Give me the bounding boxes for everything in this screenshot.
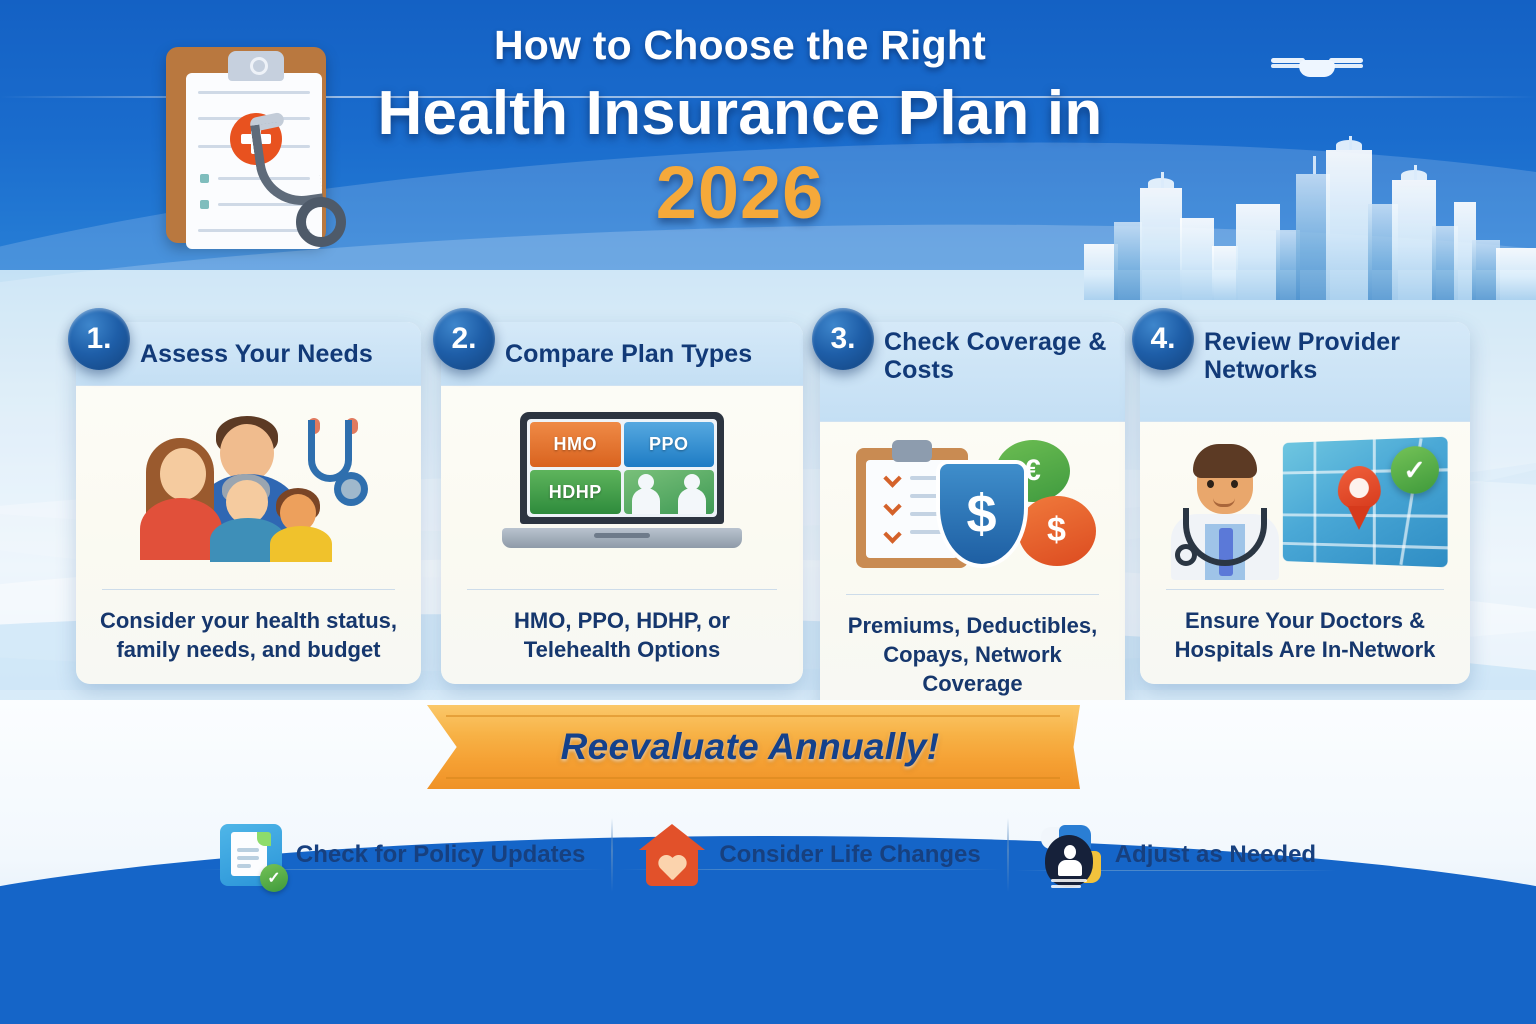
footer-label-2: Consider Life Changes xyxy=(719,841,980,870)
laptop-plan-types-illustration: HMO PPO HDHP xyxy=(441,386,803,589)
step-title-3: Check Coverage & Costs xyxy=(884,328,1125,384)
step-number-badge-1: 1. xyxy=(68,308,130,370)
drone-icon xyxy=(1271,52,1363,86)
verified-check-icon: ✓ xyxy=(1391,446,1439,494)
plan-tile-ppo: PPO xyxy=(624,422,715,467)
stethoscope-icon xyxy=(246,121,342,251)
step-number-badge-4: 4. xyxy=(1132,308,1194,370)
footer-item-life-changes[interactable]: Consider Life Changes xyxy=(613,824,1006,886)
steps-card-row: 1. Assess Your Needs xyxy=(0,300,1536,695)
title-line-2: Health Insurance Plan in xyxy=(330,77,1150,151)
footer-reminders: ✓ Check for Policy Updates Consider Life… xyxy=(0,800,1536,910)
plan-tile-hdhp: HDHP xyxy=(530,470,621,515)
check-badge: ✓ xyxy=(260,864,288,892)
footer-label-1: Check for Policy Updates xyxy=(296,841,585,870)
document-check-icon: ✓ xyxy=(220,824,282,886)
stethoscope-icon xyxy=(300,420,372,518)
plan-tile-hmo: HMO xyxy=(530,422,621,467)
step-title-1: Assess Your Needs xyxy=(140,340,373,368)
step-card-header-2: Compare Plan Types xyxy=(441,322,803,386)
money-bag-icon: $ xyxy=(1018,496,1096,566)
callout-ribbon: Reevaluate Annually! xyxy=(0,705,1536,797)
doctor-avatar xyxy=(1165,434,1285,580)
step-card-4[interactable]: 4. Review Provider Networks xyxy=(1140,322,1470,684)
title-line-1: How to Choose the Right xyxy=(330,22,1150,69)
network-map-icon: ✓ xyxy=(1283,437,1448,568)
profile-adjust-icon xyxy=(1035,823,1101,887)
step-card-2[interactable]: 2. Compare Plan Types HMO PPO HDHP xyxy=(441,322,803,684)
step-card-1[interactable]: 1. Assess Your Needs xyxy=(76,322,421,684)
doctor-map-illustration: ✓ xyxy=(1140,422,1470,589)
home-heart-icon xyxy=(639,824,705,886)
step-title-4: Review Provider Networks xyxy=(1204,328,1470,384)
ribbon-text: Reevaluate Annually! xyxy=(561,726,940,768)
medical-clipboard-icon xyxy=(158,33,344,249)
step-description-2: HMO, PPO, HDHP, or Telehealth Options xyxy=(441,590,803,684)
infographic-canvas: How to Choose the Right Health Insurance… xyxy=(0,0,1536,1024)
step-description-4: Ensure Your Doctors & Hospitals Are In-N… xyxy=(1140,590,1470,684)
footer-item-adjust[interactable]: Adjust as Needed xyxy=(1009,823,1342,887)
title-year: 2026 xyxy=(330,156,1150,230)
footer-label-3: Adjust as Needed xyxy=(1115,841,1316,870)
clipboard-shield-money-illustration: € $ $ xyxy=(820,422,1125,594)
step-card-3[interactable]: 3. Check Coverage & Costs xyxy=(820,322,1125,718)
telehealth-tile xyxy=(624,470,715,515)
ribbon-banner: Reevaluate Annually! xyxy=(427,705,1073,789)
step-number-badge-2: 2. xyxy=(433,308,495,370)
map-pin-icon xyxy=(1338,466,1381,511)
family-illustration xyxy=(76,386,421,589)
step-title-2: Compare Plan Types xyxy=(505,340,752,368)
page-title: How to Choose the Right Health Insurance… xyxy=(330,22,1150,230)
step-number-badge-3: 3. xyxy=(812,308,874,370)
footer-item-policy-updates[interactable]: ✓ Check for Policy Updates xyxy=(194,824,611,886)
step-description-1: Consider your health status, family need… xyxy=(76,590,421,684)
